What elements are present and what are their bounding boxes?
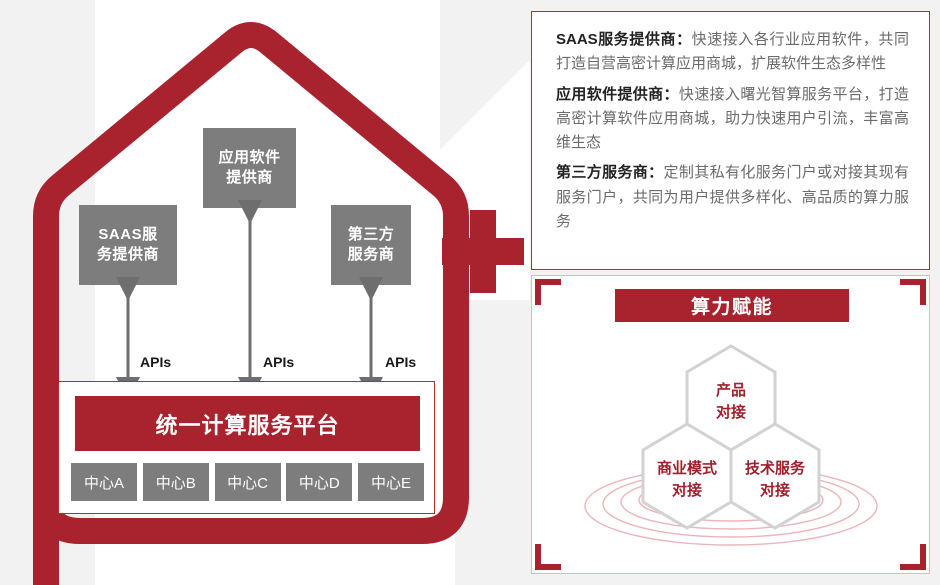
- center-chip-c[interactable]: 中心C: [215, 463, 281, 501]
- diagram-stage: SAAS服 务提供商 应用软件 提供商 第三方 服务商 APIs APIs AP…: [0, 0, 940, 585]
- platform-title-bar: 统一计算服务平台: [75, 396, 420, 451]
- hex-line1: 技术服务: [715, 458, 835, 480]
- api-label-app: APIs: [263, 354, 294, 370]
- empower-card: 算力赋能 产品 对接 商业模式 对接: [531, 275, 930, 574]
- center-chip-a[interactable]: 中心A: [71, 463, 137, 501]
- center-chip-d[interactable]: 中心D: [286, 463, 352, 501]
- hex-line2: 对接: [715, 480, 835, 502]
- paragraph-saas: SAAS服务提供商：快速接入各行业应用软件，共同打造自营高密计算应用商城，扩展软…: [556, 28, 909, 77]
- description-card: SAAS服务提供商：快速接入各行业应用软件，共同打造自营高密计算应用商城，扩展软…: [531, 11, 930, 270]
- hexagon-cluster: 产品 对接 商业模式 对接 技术服务 对接: [532, 324, 929, 573]
- plus-icon: [442, 210, 524, 293]
- api-label-saas: APIs: [140, 354, 171, 370]
- center-chip-b[interactable]: 中心B: [143, 463, 209, 501]
- corner-bracket-top-right: [900, 279, 926, 305]
- hex-line1: 产品: [671, 380, 791, 402]
- center-chip-e[interactable]: 中心E: [358, 463, 424, 501]
- hex-line2: 对接: [671, 402, 791, 424]
- empower-title: 算力赋能: [615, 289, 849, 322]
- hexagon-label-product: 产品 对接: [671, 380, 791, 424]
- hexagon-shapes: [532, 324, 929, 573]
- center-chip-row: 中心A 中心B 中心C 中心D 中心E: [71, 463, 424, 501]
- corner-bracket-top-left: [535, 279, 561, 305]
- paragraph-label-third: 第三方服务商：: [556, 164, 664, 181]
- paragraph-label-saas: SAAS服务提供商：: [556, 31, 692, 48]
- paragraph-label-app: 应用软件提供商：: [556, 86, 679, 103]
- api-label-third: APIs: [385, 354, 416, 370]
- hexagon-label-tech: 技术服务 对接: [715, 458, 835, 502]
- platform-panel: 统一计算服务平台 中心A 中心B 中心C 中心D 中心E: [58, 381, 435, 514]
- paragraph-third: 第三方服务商：定制其私有化服务门户或对接其现有服务门户，共同为用户提供多样化、高…: [556, 161, 909, 234]
- paragraph-app: 应用软件提供商：快速接入曙光智算服务平台，打造高密计算软件应用商城，助力快速用户…: [556, 83, 909, 156]
